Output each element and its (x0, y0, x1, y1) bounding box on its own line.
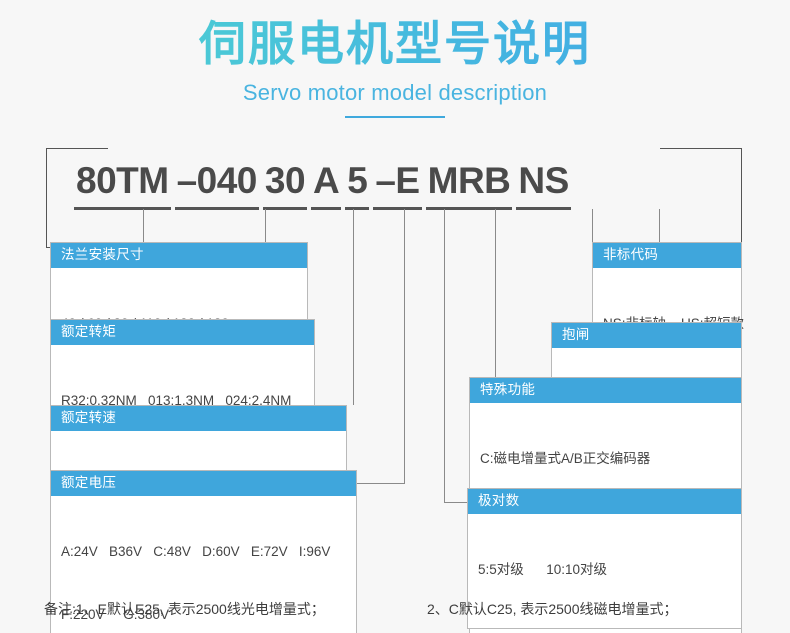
title-underline-rule (345, 116, 445, 118)
model-segment-poles: 5 (343, 160, 371, 210)
model-number-row: 80TM –040 30 A 5 –E MRB NS (72, 160, 573, 210)
callout-title-flange: 法兰安装尺寸 (51, 243, 307, 268)
connector-voltage-h (357, 483, 405, 484)
connector-speed-v (353, 209, 354, 405)
page-subtitle-en: Servo motor model description (0, 80, 790, 106)
connector-nonstd (659, 209, 660, 242)
callout-title-torque: 额定转矩 (51, 320, 314, 345)
model-segment-nonstd: NS (514, 160, 572, 210)
callout-title-nonstandard: 非标代码 (593, 243, 741, 268)
connector-poles-v (444, 209, 445, 502)
callout-title-voltage: 额定电压 (51, 471, 356, 496)
callout-title-pole-pairs: 极对数 (468, 489, 741, 514)
callout-title-speed: 额定转速 (51, 406, 346, 431)
model-segment-function: –E (371, 160, 423, 210)
page-title-cn: 伺服电机型号说明 (0, 18, 790, 71)
footer-note-1: 备注:1、E默认E25, 表示2500线光电增量式； (44, 597, 325, 622)
connector-poles-h (444, 502, 467, 503)
model-segment-brake: MRB (424, 160, 515, 210)
model-segment-speed: 30 (261, 160, 309, 210)
footer-note-2: 2、C默认C25, 表示2500线磁电增量式； (427, 597, 678, 622)
model-segment-torque: –040 (173, 160, 261, 210)
model-segment-flange: 80TM (72, 160, 173, 210)
callout-title-special-function: 特殊功能 (470, 378, 741, 403)
connector-voltage-v (404, 209, 405, 483)
footer-notes-right: 2、C默认C25, 表示2500线磁电增量式； 4、C17, 表示磁电绝对值17… (427, 548, 678, 633)
connector-function (495, 209, 496, 377)
callout-line: C:磁电增量式A/B正交编码器 (480, 449, 732, 470)
callout-title-brake: 抱闸 (552, 323, 741, 348)
footer-notes-left: 备注:1、E默认E25, 表示2500线光电增量式； 3、A17, 表示光电绝对… (44, 548, 325, 633)
model-bracket-right (660, 148, 742, 248)
diagram-root: 伺服电机型号说明 Servo motor model description 8… (0, 0, 790, 633)
model-segment-voltage: A (309, 160, 343, 210)
